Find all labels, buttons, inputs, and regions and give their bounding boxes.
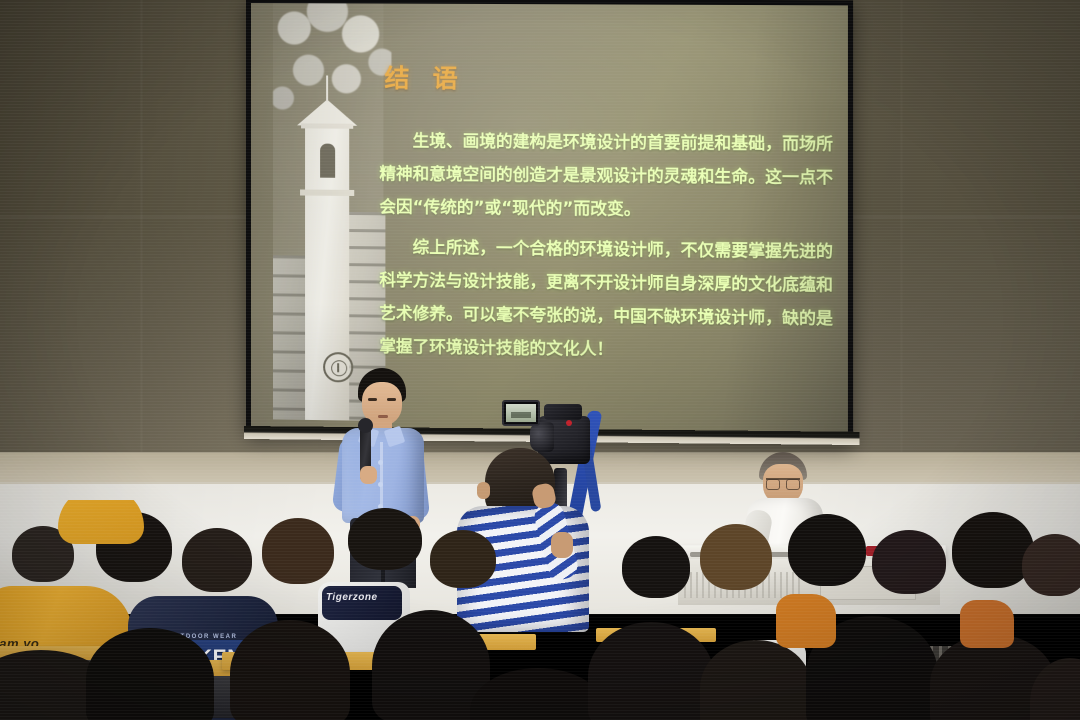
audience-head — [348, 508, 422, 570]
slide-title: 结 语 — [384, 59, 464, 96]
tower-arch-window — [320, 144, 335, 178]
operator-hand-lower — [551, 532, 573, 558]
audience-head — [262, 518, 334, 584]
hoodie-hood — [58, 500, 144, 544]
lecture-hall-photo: 结 语 生境、画境的建构是环境设计的首要前提和基础，而场所精神和意境空间的创造才… — [0, 0, 1080, 720]
audience-head-foreground — [588, 622, 714, 720]
audience-head — [182, 528, 252, 592]
building-left — [273, 255, 307, 420]
audience-head — [788, 514, 866, 586]
audience-head — [1022, 534, 1080, 596]
audience: ream yo OUTDOOR WEAR WEEKEND AUTHENTIC S… — [0, 500, 1080, 720]
speaker-shirt-button — [378, 482, 383, 487]
audience-head — [430, 530, 496, 588]
audience-orange-garment — [776, 594, 836, 648]
tower-spire — [326, 75, 328, 101]
slide-body: 生境、画境的建构是环境设计的首要前提和基础，而场所精神和意境空间的创造才是景观设… — [379, 124, 835, 369]
camera-record-indicator — [566, 420, 572, 426]
operator-ear — [477, 482, 490, 499]
camera-top-handle — [544, 404, 582, 420]
graphic-tee-text: Tigerzone — [326, 592, 378, 603]
tower-ledge-upper — [301, 123, 353, 128]
audience-head-foreground — [230, 620, 350, 720]
eyeglasses-icon — [766, 478, 800, 486]
tower-ledge-lower — [300, 189, 354, 195]
audience-head — [622, 536, 690, 598]
audience-head — [872, 530, 946, 594]
audience-head — [700, 524, 772, 590]
speaker-hand-holding-mic — [360, 466, 377, 484]
audience-head-foreground — [470, 668, 606, 720]
speaker-shirt-button — [378, 460, 383, 465]
camera-monitor-screen — [502, 400, 540, 426]
tower-roof — [297, 99, 357, 125]
audience-head-foreground — [86, 628, 214, 720]
slide-photo-tower — [273, 3, 383, 420]
audience-head — [952, 512, 1034, 588]
slide-paragraph-2: 综上所述，一个合格的环境设计师，不仅需要掌握先进的科学方法与设计技能，更离不开设… — [379, 230, 835, 369]
speaker-mouth — [378, 415, 388, 418]
audience-orange-garment — [960, 600, 1014, 648]
slide-paragraph-1: 生境、画境的建构是环境设计的首要前提和基础，而场所精神和意境空间的创造才是景观设… — [379, 124, 835, 228]
